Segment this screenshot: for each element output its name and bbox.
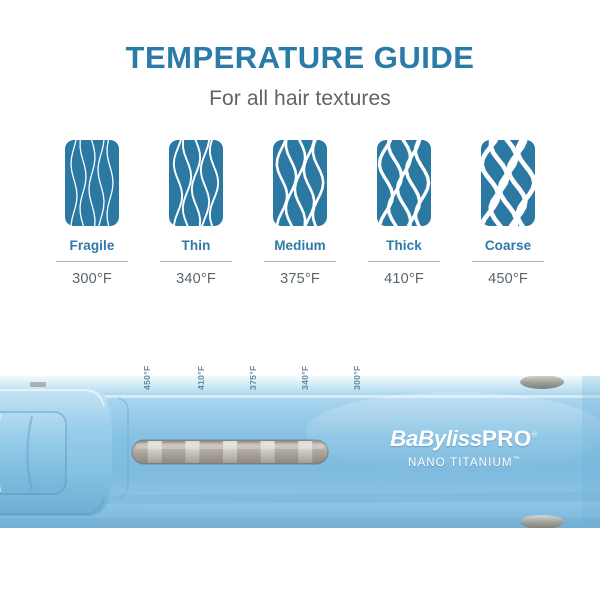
page-title: TEMPERATURE GUIDE: [0, 0, 600, 75]
page-subtitle: For all hair textures: [0, 75, 600, 111]
texture-temperature: 375°F: [280, 272, 320, 287]
texture-divider: [472, 261, 544, 263]
iron-bottom-shade: [0, 518, 600, 528]
texture-temperature: 410°F: [384, 272, 424, 287]
texture-column-thin[interactable]: Thin340°F: [150, 140, 242, 287]
hair-texture-medium-icon: [273, 140, 327, 226]
texture-divider: [56, 261, 128, 263]
texture-label: Thin: [182, 239, 211, 253]
texture-column-medium[interactable]: Medium375°F: [254, 140, 346, 287]
iron-hinge-pin-top: [520, 375, 564, 389]
flat-iron-graphic: [0, 368, 600, 536]
texture-column-coarse[interactable]: Coarse450°F: [462, 140, 554, 287]
flat-iron-illustration: 450°F410°F375°F340°F300°F BaBylissPRO® N…: [0, 368, 600, 536]
iron-brand-sheen: [306, 392, 600, 472]
texture-label: Thick: [386, 239, 422, 253]
texture-column-thick[interactable]: Thick410°F: [358, 140, 450, 287]
texture-divider: [368, 261, 440, 263]
texture-temperature: 300°F: [72, 272, 112, 287]
texture-divider: [264, 261, 336, 263]
texture-temperature: 450°F: [488, 272, 528, 287]
temperature-guide-page: TEMPERATURE GUIDE For all hair textures …: [0, 0, 600, 600]
hair-texture-coarse-icon: [481, 140, 535, 226]
hair-texture-fragile-icon: [65, 140, 119, 226]
slider-gloss: [136, 443, 324, 449]
iron-end-cap: [582, 376, 600, 528]
texture-label: Medium: [274, 239, 326, 253]
hair-texture-thin-icon: [169, 140, 223, 226]
texture-label: Fragile: [70, 239, 115, 253]
iron-clamp-lever[interactable]: [0, 412, 66, 494]
texture-divider: [160, 261, 232, 263]
iron-hinge-pin-bottom: [520, 515, 564, 529]
texture-column-fragile[interactable]: Fragile300°F: [46, 140, 138, 287]
texture-guide-row: Fragile300°FThin340°FMedium375°FThick410…: [46, 140, 554, 287]
iron-left-marking: [30, 382, 46, 387]
texture-label: Coarse: [485, 239, 531, 253]
page-header: TEMPERATURE GUIDE For all hair textures: [0, 0, 600, 111]
hair-texture-thick-icon: [377, 140, 431, 226]
texture-temperature: 340°F: [176, 272, 216, 287]
